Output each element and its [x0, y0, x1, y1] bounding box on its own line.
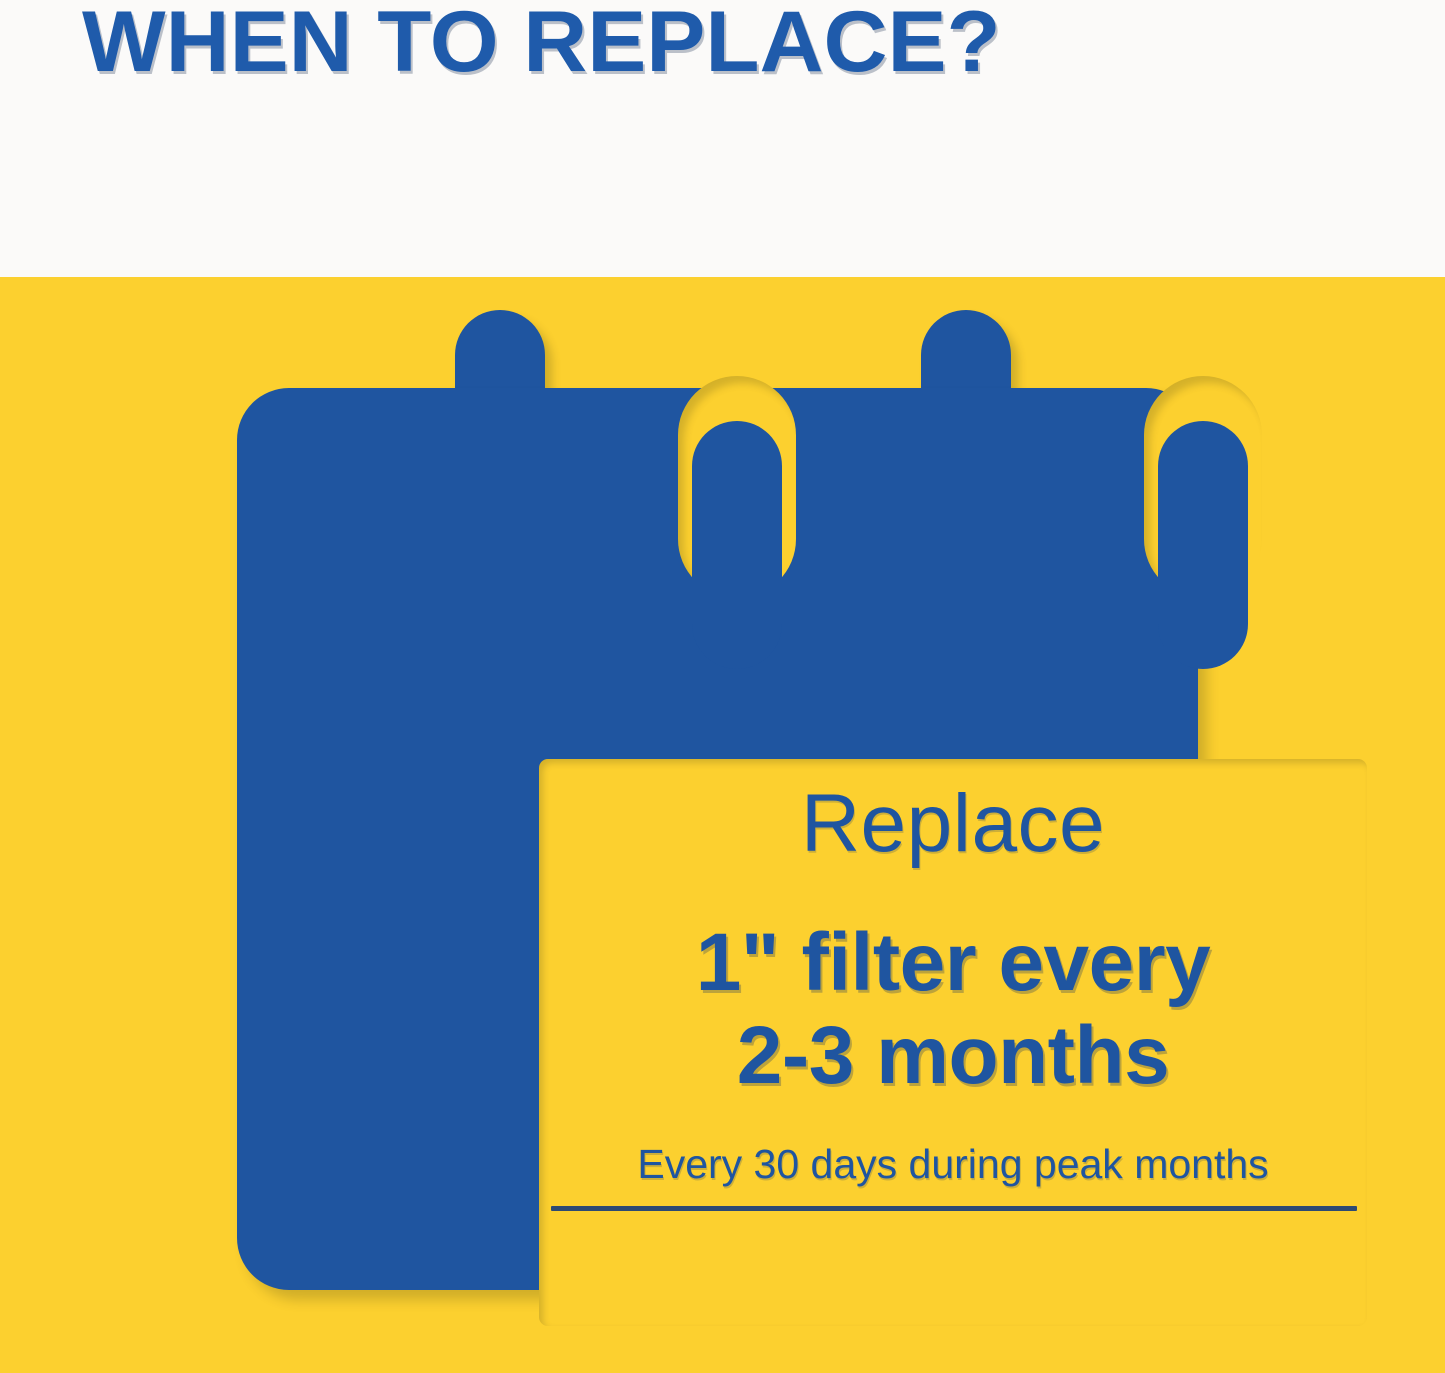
yellow-stage: Replace 1" filter every 2-3 months Every…	[0, 277, 1445, 1373]
replace-headline-line-2: 2-3 months	[539, 1009, 1367, 1102]
calendar-binder-ring-left-front	[692, 421, 782, 669]
calendar-page: Replace 1" filter every 2-3 months Every…	[539, 759, 1367, 1326]
replace-footnote: Every 30 days during peak months	[539, 1142, 1367, 1187]
replace-label: Replace	[539, 783, 1367, 865]
calendar-body: Replace 1" filter every 2-3 months Every…	[237, 388, 1198, 1290]
footnote-underline-rule	[551, 1206, 1357, 1211]
header-band: WHEN TO REPLACE?	[0, 0, 1445, 277]
page-title: WHEN TO REPLACE?	[82, 0, 1205, 88]
replace-headline-line-1: 1" filter every	[539, 916, 1367, 1009]
replace-headline: 1" filter every 2-3 months	[539, 916, 1367, 1102]
calendar-icon: Replace 1" filter every 2-3 months Every…	[0, 277, 1445, 1373]
calendar-binder-ring-right-front	[1158, 421, 1248, 669]
